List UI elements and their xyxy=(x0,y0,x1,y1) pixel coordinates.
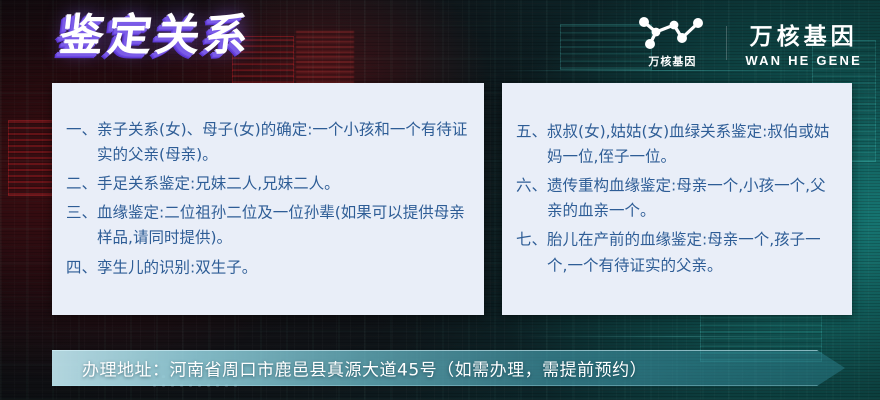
list-item-number: 二、 xyxy=(66,172,97,197)
slide-canvas: 鉴定关系 xyxy=(0,0,880,400)
list-item: 一、 亲子关系(女)、母子(女)的确定:一个小孩和一个有待证实的父亲(母亲)。 xyxy=(66,118,468,168)
address-banner-text: 办理地址：河南省周口市鹿邑县真源大道45号（如需办理，需提前预约） xyxy=(82,356,647,381)
list-item-text: 遗传重构血缘鉴定:母亲一个,小孩一个,父亲的血亲一个。 xyxy=(547,174,836,224)
logo-mark: 万核基因 xyxy=(636,16,708,69)
info-list-left: 一、 亲子关系(女)、母子(女)的确定:一个小孩和一个有待证实的父亲(母亲)。 … xyxy=(52,118,484,281)
brand-name-cn: 万核基因 xyxy=(750,17,858,51)
list-item-number: 七、 xyxy=(516,228,547,253)
molecule-icon xyxy=(636,16,708,50)
list-item-number: 五、 xyxy=(516,120,547,145)
brand-name-en: WAN HE GENE xyxy=(745,53,862,68)
list-item-number: 六、 xyxy=(516,174,547,199)
page-title: 鉴定关系 xyxy=(57,14,254,58)
list-item-number: 三、 xyxy=(66,201,97,226)
logo-wordmark: 万核基因 WAN HE GENE xyxy=(745,17,862,68)
logo-divider xyxy=(726,26,727,60)
list-item: 五、 叔叔(女),姑姑(女)血绿关系鉴定:叔伯或姑妈一位,侄子一位。 xyxy=(516,120,836,170)
address-banner: 办理地址：河南省周口市鹿邑县真源大道45号（如需办理，需提前预约） xyxy=(52,350,845,386)
brand-logo: 万核基因 万核基因 WAN HE GENE xyxy=(636,16,862,69)
list-item: 六、 遗传重构血缘鉴定:母亲一个,小孩一个,父亲的血亲一个。 xyxy=(516,174,836,224)
list-item: 三、 血缘鉴定:二位祖孙二位及一位孙辈(如果可以提供母亲样品,请同时提供)。 xyxy=(66,201,468,251)
list-item: 四、 孪生儿的识别:双生子。 xyxy=(66,255,468,280)
list-item-text: 手足关系鉴定:兄妹二人,兄妹二人。 xyxy=(97,172,468,197)
list-item-number: 一、 xyxy=(66,118,97,143)
list-item: 七、 胎儿在产前的血缘鉴定:母亲一个,孩子一个,一个有待证实的父亲。 xyxy=(516,228,836,278)
info-list-right: 五、 叔叔(女),姑姑(女)血绿关系鉴定:叔伯或姑妈一位,侄子一位。 六、 遗传… xyxy=(502,120,852,279)
logo-mark-label: 万核基因 xyxy=(648,53,696,69)
list-item-text: 亲子关系(女)、母子(女)的确定:一个小孩和一个有待证实的父亲(母亲)。 xyxy=(97,118,468,168)
info-panel-right: 五、 叔叔(女),姑姑(女)血绿关系鉴定:叔伯或姑妈一位,侄子一位。 六、 遗传… xyxy=(502,83,852,315)
list-item-text: 胎儿在产前的血缘鉴定:母亲一个,孩子一个,一个有待证实的父亲。 xyxy=(547,228,836,278)
list-item-number: 四、 xyxy=(66,255,97,280)
list-item-text: 孪生儿的识别:双生子。 xyxy=(97,255,468,280)
list-item-text: 血缘鉴定:二位祖孙二位及一位孙辈(如果可以提供母亲样品,请同时提供)。 xyxy=(97,201,468,251)
info-panel-left: 一、 亲子关系(女)、母子(女)的确定:一个小孩和一个有待证实的父亲(母亲)。 … xyxy=(52,83,484,315)
list-item-text: 叔叔(女),姑姑(女)血绿关系鉴定:叔伯或姑妈一位,侄子一位。 xyxy=(547,120,836,170)
list-item: 二、 手足关系鉴定:兄妹二人,兄妹二人。 xyxy=(66,172,468,197)
